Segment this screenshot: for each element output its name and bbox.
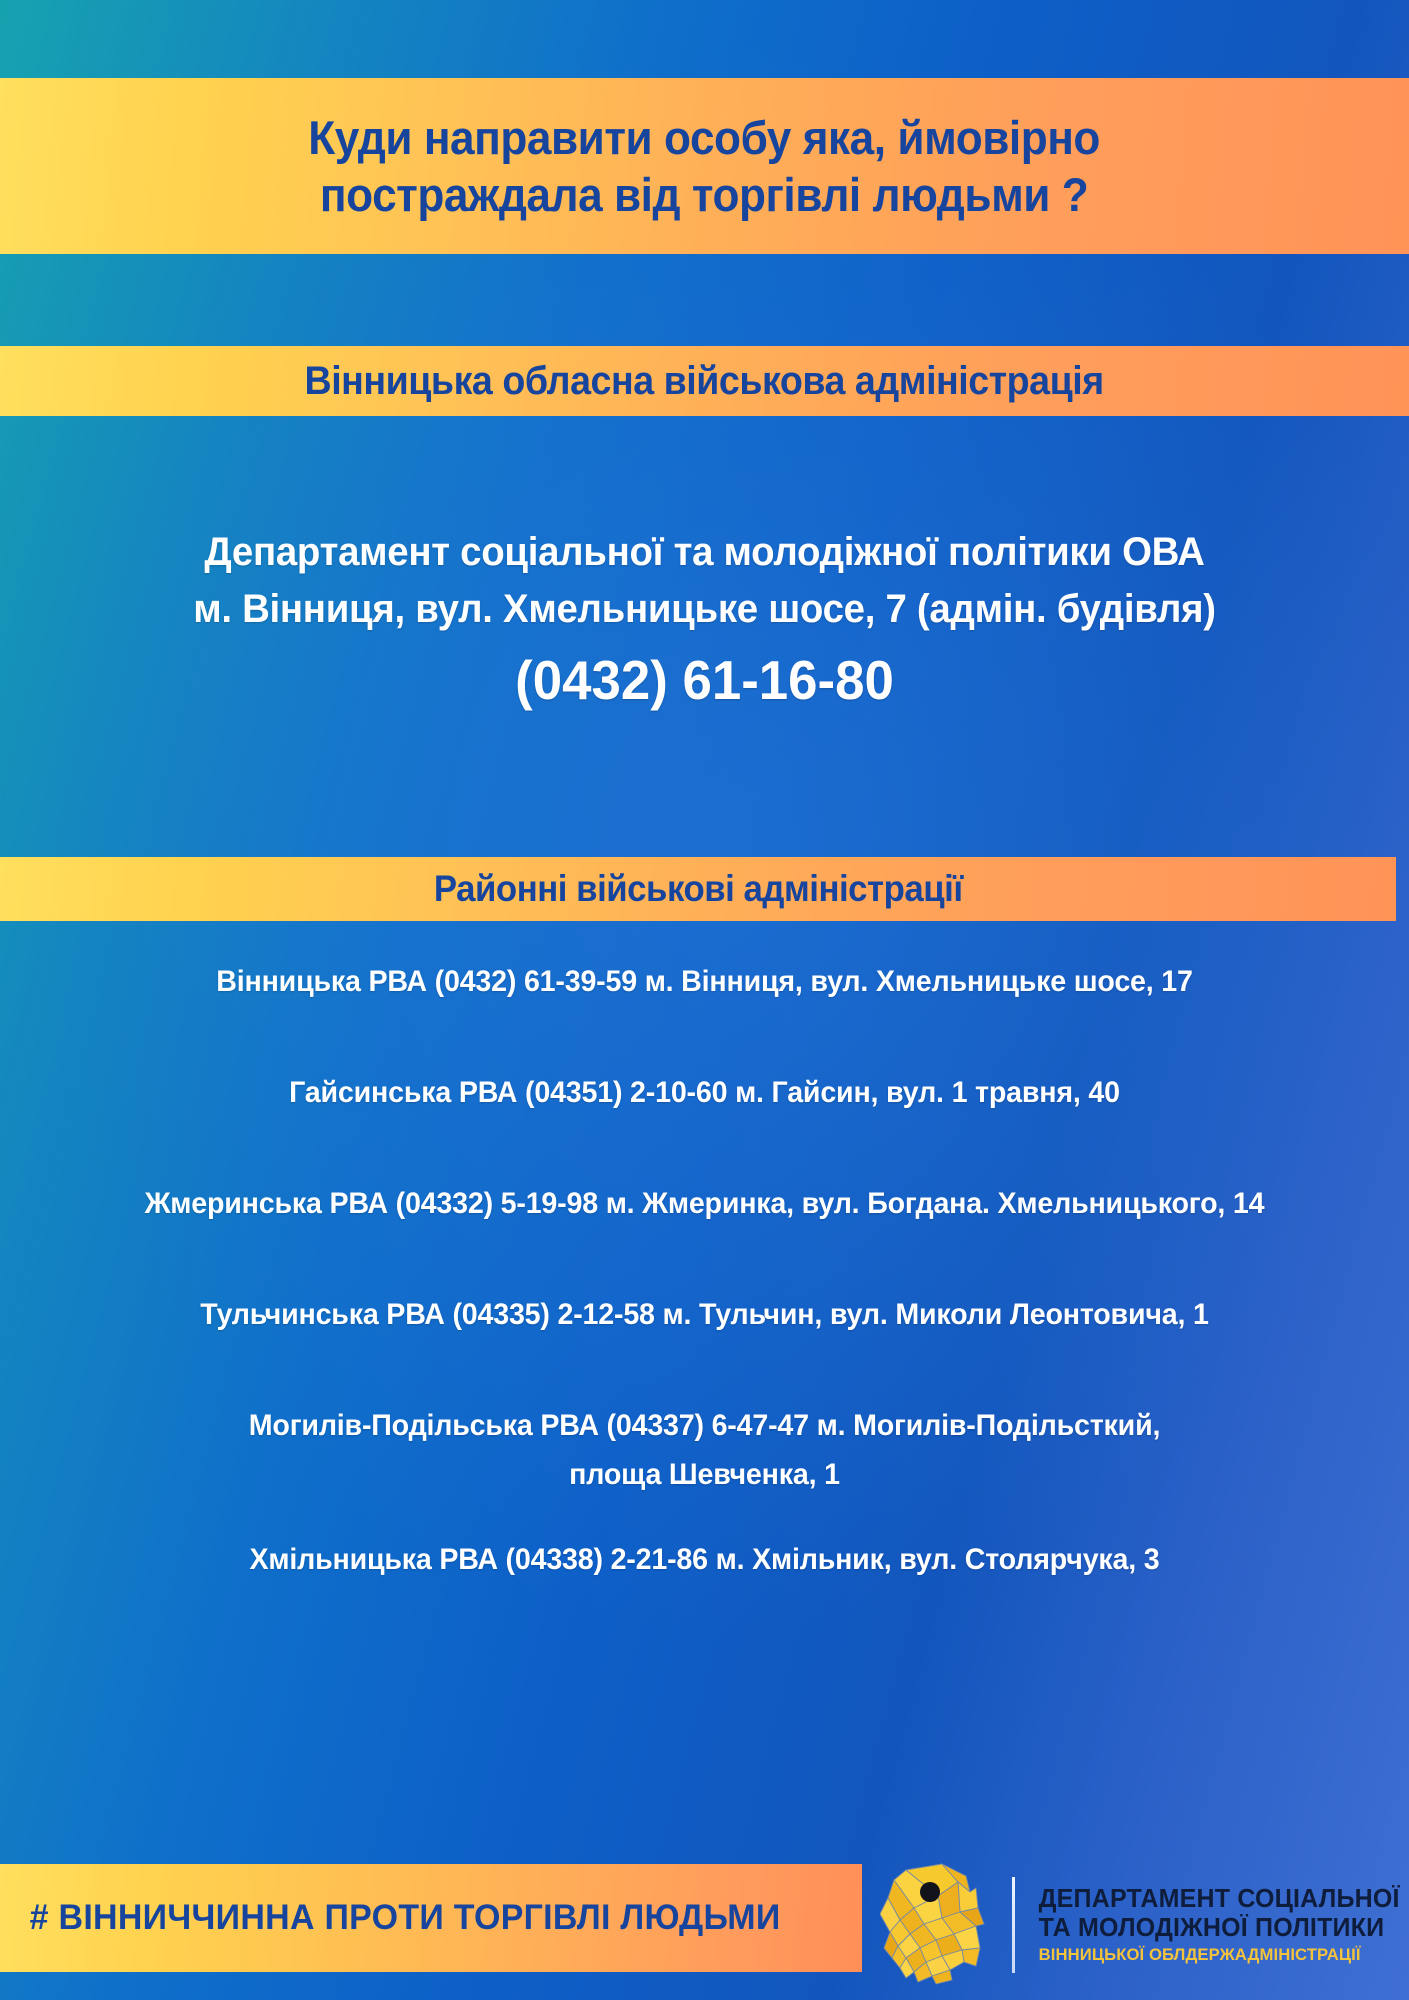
rayon-administrations-list: Вінницька РВА (0432) 61-39-59 м. Вінниця…: [0, 963, 1409, 1580]
rayon-administrations-banner: Районні військові адміністрації: [0, 857, 1396, 921]
rayon-entry-text: Вінницька РВА (0432) 61-39-59 м. Вінниця…: [216, 965, 1192, 998]
footer-bar: # ВІННИЧЧИННА ПРОТИ ТОРГІВЛІ ЛЮДЬМИ: [0, 1850, 1409, 2000]
list-item: Вінницька РВА (0432) 61-39-59 м. Вінниця…: [41, 963, 1369, 1002]
rayon-entry-text: Гайсинська РВА (04351) 2-10-60 м. Гайсин…: [289, 1076, 1120, 1109]
logo-line-2: ТА МОЛОДІЖНОЇ ПОЛІТИКИ: [1039, 1914, 1400, 1943]
list-item: Жмеринська РВА (04332) 5-19-98 м. Жмерин…: [41, 1185, 1369, 1224]
rayon-entry-text-line2: площа Шевченка, 1: [41, 1456, 1369, 1495]
title-line-2: постраждала від торгівлі людьми ?: [309, 166, 1101, 223]
list-item: Тульчинська РВА (04335) 2-12-58 м. Тульч…: [41, 1296, 1369, 1335]
hashtag-label: # ВІННИЧЧИННА ПРОТИ ТОРГІВЛІ ЛЮДЬМИ: [30, 1898, 781, 1938]
department-name: Департамент соціальної та молодіжної пол…: [55, 524, 1354, 581]
title-banner: Куди направити особу яка, ймовірно постр…: [0, 78, 1409, 254]
logo-line-1: ДЕПАРТАМЕНТ СОЦІАЛЬНОЇ: [1039, 1885, 1400, 1914]
logo-divider: [1012, 1877, 1015, 1973]
poster-root: Куди направити особу яка, ймовірно постр…: [0, 0, 1409, 2000]
footer-logo-group: ДЕПАРТАМЕНТ СОЦІАЛЬНОЇ ТА МОЛОДІЖНОЇ ПОЛ…: [862, 1850, 1409, 2000]
rayon-entry-text: Жмеринська РВА (04332) 5-19-98 м. Жмерин…: [145, 1187, 1265, 1220]
logo-line-3: ВІННИЦЬКОЇ ОБЛДЕРЖАДМІНІСТРАЦІЇ: [1039, 1945, 1400, 1965]
rayon-administrations-label: Районні військові адміністрації: [434, 866, 963, 911]
rayon-entry-text: Могилів-Подільська РВА (04337) 6-47-47 м…: [249, 1409, 1160, 1442]
department-phone-number[interactable]: (0432) 61-16-80: [55, 648, 1354, 712]
list-item: Могилів-Подільська РВА (04337) 6-47-47 м…: [41, 1407, 1369, 1495]
list-item: Хмільницька РВА (04338) 2-21-86 м. Хміль…: [41, 1541, 1369, 1580]
title-line-1: Куди направити особу яка, ймовірно: [309, 109, 1101, 166]
rayon-entry-text: Хмільницька РВА (04338) 2-21-86 м. Хміль…: [249, 1543, 1159, 1576]
department-address: м. Вінниця, вул. Хмельницьке шосе, 7 (ад…: [55, 581, 1354, 638]
oblast-administration-banner: Вінницька обласна військова адміністраці…: [0, 346, 1409, 416]
title-text: Куди направити особу яка, ймовірно постр…: [309, 109, 1101, 224]
vinnytsia-region-map-icon: [880, 1862, 998, 1988]
department-contact-block: Департамент соціальної та молодіжної пол…: [0, 524, 1409, 712]
hashtag-banner: # ВІННИЧЧИННА ПРОТИ ТОРГІВЛІ ЛЮДЬМИ: [0, 1864, 862, 1972]
logo-text-block: ДЕПАРТАМЕНТ СОЦІАЛЬНОЇ ТА МОЛОДІЖНОЇ ПОЛ…: [1035, 1885, 1403, 1966]
rayon-entry-text: Тульчинська РВА (04335) 2-12-58 м. Тульч…: [200, 1298, 1208, 1331]
oblast-administration-label: Вінницька обласна військова адміністраці…: [305, 357, 1104, 406]
list-item: Гайсинська РВА (04351) 2-10-60 м. Гайсин…: [41, 1074, 1369, 1113]
